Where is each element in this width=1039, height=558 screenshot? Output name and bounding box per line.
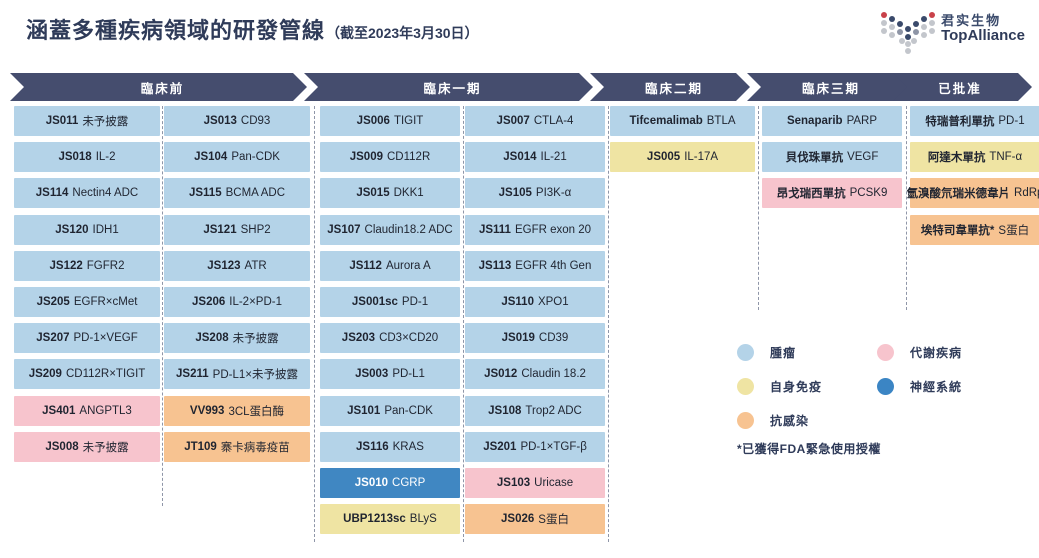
pipeline-cell-code: JS115	[189, 187, 222, 199]
pipeline-cell[interactable]: JS201PD-1×TGF-β	[465, 432, 605, 462]
company-logo: 君实生物 TopAlliance	[879, 8, 1025, 50]
pipeline-cell-target: Trop2 ADC	[525, 405, 581, 417]
pipeline-cell[interactable]: JS206IL-2×PD-1	[164, 287, 310, 317]
pipeline-cell-target: BTLA	[707, 115, 736, 127]
pipeline-cell-code: JS208	[195, 332, 228, 344]
pipeline-cell-target: SHP2	[241, 224, 271, 236]
pipeline-cell-target: CD93	[241, 115, 270, 127]
pipeline-cell-code: JS122	[50, 260, 83, 272]
phase-header-label: 臨床三期	[802, 78, 860, 97]
logo-dot	[913, 29, 919, 35]
pipeline-cell-target: CD39	[539, 332, 568, 344]
legend-item-label: 腫瘤	[770, 344, 796, 361]
pipeline-cell[interactable]: TifcemalimabBTLA	[610, 106, 755, 136]
pipeline-cell-target: ANGPTL3	[79, 405, 131, 417]
pipeline-cell-code: JS007	[497, 115, 530, 127]
pipeline-cell-code: JS008	[45, 441, 78, 453]
pipeline-cell[interactable]: 阿達木單抗TNF-α	[910, 142, 1039, 172]
pipeline-cell-code: 貝伐珠單抗	[786, 149, 844, 165]
pipeline-cell-code: JS009	[350, 151, 383, 163]
pipeline-cell-target: ATR	[245, 260, 267, 272]
pipeline-cell-target: IL-17A	[684, 151, 718, 163]
pipeline-column-preclinical-1: JS011未予披露JS018IL-2JS114Nectin4 ADCJS120I…	[14, 106, 160, 548]
legend-color-swatch	[877, 378, 894, 395]
pipeline-column-phase3-1: SenaparibPARP貝伐珠單抗VEGF昂戈瑞西單抗PCSK9	[762, 106, 902, 548]
column-divider	[608, 106, 609, 542]
phase-header-label: 臨床一期	[423, 78, 481, 97]
pipeline-cell[interactable]: JS026S蛋白	[465, 504, 605, 534]
pipeline-cell-target: Pan-CDK	[384, 405, 433, 417]
pipeline-cell[interactable]: 貝伐珠單抗VEGF	[762, 142, 902, 172]
pipeline-cell-target: 寨卡病毒疫苗	[221, 439, 290, 455]
pipeline-cell[interactable]: JS401ANGPTL3	[14, 396, 160, 426]
phase-header-label: 臨床二期	[645, 78, 703, 97]
pipeline-cell[interactable]: JS001scPD-1	[320, 287, 460, 317]
pipeline-cell[interactable]: JS123ATR	[164, 251, 310, 281]
pipeline-cell[interactable]: 昂戈瑞西單抗PCSK9	[762, 178, 902, 208]
pipeline-cell[interactable]: JS019CD39	[465, 323, 605, 353]
pipeline-cell[interactable]: JS120IDH1	[14, 215, 160, 245]
phase-header-phase3[interactable]: 臨床三期	[747, 73, 907, 101]
logo-dot	[881, 12, 887, 18]
logo-dot	[897, 29, 903, 35]
column-divider	[463, 106, 464, 542]
legend-color-swatch	[737, 378, 754, 395]
legend-item-autoimmune: 自身免疫	[737, 378, 822, 395]
logo-name-en: TopAlliance	[941, 28, 1025, 44]
phase-header-phase2[interactable]: 臨床二期	[590, 73, 750, 101]
pipeline-cell-code: JS108	[488, 405, 521, 417]
pipeline-cell[interactable]: JT109寨卡病毒疫苗	[164, 432, 310, 462]
pipeline-cell[interactable]: JS110XPO1	[465, 287, 605, 317]
pipeline-cell-code: JS110	[501, 296, 534, 308]
logo-dot	[881, 28, 887, 34]
logo-dot	[889, 32, 895, 38]
pipeline-cell-target: CD112R×TIGIT	[66, 368, 145, 380]
pipeline-cell-code: 阿達木單抗	[928, 149, 986, 165]
pipeline-cell-code: JS112	[349, 260, 382, 272]
column-divider	[314, 106, 315, 542]
legend-color-swatch	[737, 412, 754, 429]
column-divider	[162, 106, 163, 506]
pipeline-cell-code: JS107	[327, 224, 360, 236]
pipeline-cell-target: PI3K-α	[536, 187, 571, 199]
pipeline-cell[interactable]: JS209CD112R×TIGIT	[14, 359, 160, 389]
pipeline-cell[interactable]: JS104Pan-CDK	[164, 142, 310, 172]
logo-dot	[881, 20, 887, 26]
pipeline-cell[interactable]: JS012Claudin 18.2	[465, 359, 605, 389]
pipeline-cell-code: Senaparib	[787, 115, 843, 127]
pipeline-cell-code: JS003	[355, 368, 388, 380]
legend-item-label: 代謝疾病	[910, 344, 962, 361]
pipeline-cell[interactable]: JS011未予披露	[14, 106, 160, 136]
pipeline-cell-code: JS019	[502, 332, 535, 344]
pipeline-cell-code: JT109	[184, 441, 217, 453]
pipeline-cell-code: UBP1213sc	[343, 513, 406, 525]
pipeline-cell[interactable]: 氫溴酸氘瑞米德韋片RdRp	[910, 178, 1039, 208]
pipeline-cell-target: CD112R	[387, 151, 430, 163]
pipeline-cell-target: PARP	[847, 115, 877, 127]
pipeline-cell-code: JS011	[46, 115, 79, 127]
pipeline-cell-code: JS005	[647, 151, 680, 163]
pipeline-cell[interactable]: JS003PD-L1	[320, 359, 460, 389]
legend-item-label: 神經系統	[910, 378, 962, 395]
pipeline-cell-code: 埃特司韋單抗*	[921, 222, 994, 238]
pipeline-cell-code: JS006	[357, 115, 390, 127]
page-title-main: 涵蓋多種疾病領域的研發管線	[26, 13, 325, 45]
pipeline-cell[interactable]: JS014IL-21	[465, 142, 605, 172]
pipeline-cell[interactable]: JS006TIGIT	[320, 106, 460, 136]
logo-dot	[921, 24, 927, 30]
pipeline-cell[interactable]: JS005IL-17A	[610, 142, 755, 172]
legend-item-metabolic: 代謝疾病	[877, 344, 962, 361]
legend-color-swatch	[737, 344, 754, 361]
pipeline-cell-target: TNF-α	[989, 151, 1022, 163]
pipeline-cell-code: JS104	[194, 151, 227, 163]
logo-dot	[889, 16, 895, 22]
pipeline-cell[interactable]: 特瑞普利單抗PD-1	[910, 106, 1039, 136]
pipeline-cell[interactable]: JS211PD-L1×未予披露	[164, 359, 310, 389]
pipeline-cell-code: JS111	[479, 224, 511, 236]
logo-dot	[897, 21, 903, 27]
pipeline-cell[interactable]: JS008未予披露	[14, 432, 160, 462]
pipeline-cell-target: PD-1	[402, 296, 428, 308]
pipeline-cell-code: JS116	[356, 441, 389, 453]
pipeline-cell-target: PD-L1×未予披露	[213, 366, 298, 382]
pipeline-cell-target: PD-L1	[392, 368, 425, 380]
pipeline-cell[interactable]: JS203CD3×CD20	[320, 323, 460, 353]
legend-item-anti-infection: 抗感染	[737, 412, 809, 429]
pipeline-cell-code: JS013	[204, 115, 237, 127]
pipeline-cell-code: JS121	[203, 224, 236, 236]
pipeline-cell-target: Pan-CDK	[231, 151, 280, 163]
pipeline-cell-target: XPO1	[538, 296, 569, 308]
pipeline-cell[interactable]: JS010CGRP	[320, 468, 460, 498]
pipeline-cell-target: EGFR 4th Gen	[515, 260, 591, 272]
phase-header-preclinical[interactable]: 臨床前	[10, 73, 307, 101]
pipeline-cell-target: IDH1	[93, 224, 119, 236]
pipeline-cell-target: PCSK9	[850, 187, 888, 199]
pipeline-column-phase2-1: TifcemalimabBTLAJS005IL-17A	[610, 106, 755, 548]
pipeline-cell-target: EGFR×cMet	[74, 296, 138, 308]
pipeline-cell-target: 3CL蛋白酶	[228, 403, 284, 419]
pipeline-cell[interactable]: JS207PD-1×VEGF	[14, 323, 160, 353]
pipeline-cell[interactable]: JS114Nectin4 ADC	[14, 178, 160, 208]
pipeline-cell-code: JS105	[499, 187, 532, 199]
pipeline-cell-target: CTLA-4	[534, 115, 574, 127]
pipeline-cell-target: 未予披露	[233, 330, 279, 346]
logo-dot	[905, 48, 911, 54]
pipeline-cell[interactable]: JS208未予披露	[164, 323, 310, 353]
pipeline-cell-code: JS026	[501, 513, 534, 525]
pipeline-cell[interactable]: JS013CD93	[164, 106, 310, 136]
pipeline-cell-code: Tifcemalimab	[629, 115, 702, 127]
pipeline-cell-code: JS015	[356, 187, 389, 199]
pipeline-cell[interactable]: JS122FGFR2	[14, 251, 160, 281]
pipeline-cell[interactable]: JS018IL-2	[14, 142, 160, 172]
pipeline-cell-code: VV993	[190, 405, 225, 417]
pipeline-cell-code: JS207	[36, 332, 69, 344]
logo-text: 君实生物 TopAlliance	[941, 14, 1025, 43]
pipeline-column-approved-1: 特瑞普利單抗PD-1阿達木單抗TNF-α氫溴酸氘瑞米德韋片RdRp埃特司韋單抗*…	[910, 106, 1039, 548]
pipeline-cell-target: Nectin4 ADC	[72, 187, 138, 199]
pipeline-cell[interactable]: JS121SHP2	[164, 215, 310, 245]
logo-dot	[929, 20, 935, 26]
pipeline-cell[interactable]: JS112Aurora A	[320, 251, 460, 281]
pipeline-cell-code: JS209	[29, 368, 62, 380]
pipeline-cell-code: JS101	[347, 405, 380, 417]
pipeline-cell-code: JS014	[503, 151, 536, 163]
pipeline-cell-code: JS205	[37, 296, 70, 308]
pipeline-column-phase1-1: JS006TIGITJS009CD112RJS015DKK1JS107Claud…	[320, 106, 460, 548]
legend-item-neurological: 神經系統	[877, 378, 962, 395]
pipeline-cell[interactable]: JS205EGFR×cMet	[14, 287, 160, 317]
pipeline-cell[interactable]: SenaparibPARP	[762, 106, 902, 136]
pipeline-cell-target: PD-1	[998, 115, 1024, 127]
phase-header-bar: 臨床前臨床一期臨床二期臨床三期已批准	[10, 73, 1032, 101]
pipeline-cell[interactable]: VV9933CL蛋白酶	[164, 396, 310, 426]
pipeline-cell[interactable]: JS116KRAS	[320, 432, 460, 462]
pipeline-cell[interactable]: UBP1213scBLyS	[320, 504, 460, 534]
pipeline-cell-code: 氫溴酸氘瑞米德韋片	[907, 185, 1011, 201]
pipeline-cell-target: DKK1	[394, 187, 424, 199]
pipeline-cell-target: PD-1×TGF-β	[520, 441, 586, 453]
pipeline-cell[interactable]: JS107Claudin18.2 ADC	[320, 215, 460, 245]
pipeline-cell-code: JS401	[42, 405, 75, 417]
logo-dot	[905, 26, 911, 32]
pipeline-cell-code: JS113	[479, 260, 512, 272]
page-header: 涵蓋多種疾病領域的研發管線 （截至2023年3月30日） 君实生物 TopAll…	[0, 0, 1039, 62]
column-divider	[758, 106, 759, 310]
pipeline-cell-target: BCMA ADC	[226, 187, 285, 199]
pipeline-cell[interactable]: JS101Pan-CDK	[320, 396, 460, 426]
pipeline-cell-code: JS211	[176, 368, 209, 380]
pipeline-cell[interactable]: JS015DKK1	[320, 178, 460, 208]
phase-header-phase1[interactable]: 臨床一期	[304, 73, 593, 101]
pipeline-cell-target: Claudin 18.2	[521, 368, 586, 380]
pipeline-cell[interactable]: JS009CD112R	[320, 142, 460, 172]
page-title-date: （截至2023年3月30日）	[326, 23, 479, 43]
legend-item-label: 抗感染	[770, 412, 809, 429]
logo-dot	[921, 32, 927, 38]
pipeline-cell-target: VEGF	[847, 151, 878, 163]
pipeline-cell-target: 未予披露	[82, 113, 128, 129]
pipeline-cell-code: JS123	[207, 260, 240, 272]
pipeline-cell-code: JS206	[192, 296, 225, 308]
logo-dot	[929, 28, 935, 34]
legend-color-swatch	[877, 344, 894, 361]
pipeline-cell[interactable]: JS113EGFR 4th Gen	[465, 251, 605, 281]
pipeline-cell-target: FGFR2	[87, 260, 125, 272]
pipeline-cell-target: CD3×CD20	[379, 332, 438, 344]
pipeline-cell[interactable]: JS111EGFR exon 20	[465, 215, 605, 245]
pipeline-cell-code: JS114	[36, 187, 69, 199]
pipeline-cell-target: 未予披露	[83, 439, 129, 455]
logo-dot	[921, 16, 927, 22]
phase-header-label: 已批准	[938, 78, 982, 97]
pipeline-cell-target: Uricase	[534, 477, 573, 489]
legend-item-oncology: 腫瘤	[737, 344, 796, 361]
pipeline-cell[interactable]: 埃特司韋單抗*S蛋白	[910, 215, 1039, 245]
logo-dot	[911, 38, 917, 44]
column-divider	[906, 106, 907, 310]
pipeline-cell-target: RdRp	[1014, 187, 1039, 199]
pipeline-cell-target: IL-21	[541, 151, 567, 163]
pipeline-cell-target: Aurora A	[386, 260, 431, 272]
pipeline-cell-code: JS203	[342, 332, 375, 344]
pipeline-cell-code: JS018	[58, 151, 91, 163]
page-title: 涵蓋多種疾病領域的研發管線 （截至2023年3月30日）	[26, 13, 479, 45]
pipeline-column-preclinical-2: JS013CD93JS104Pan-CDKJS115BCMA ADCJS121S…	[164, 106, 310, 548]
pipeline-cell[interactable]: JS108Trop2 ADC	[465, 396, 605, 426]
pipeline-cell[interactable]: JS007CTLA-4	[465, 106, 605, 136]
pipeline-cell-code: JS103	[497, 477, 530, 489]
pipeline-cell-code: JS012	[484, 368, 517, 380]
pipeline-column-phase1-2: JS007CTLA-4JS014IL-21JS105PI3K-αJS111EGF…	[465, 106, 605, 548]
pipeline-cell-code: JS010	[355, 477, 388, 489]
logo-name-cn: 君实生物	[941, 14, 1025, 28]
pipeline-cell[interactable]: JS105PI3K-α	[465, 178, 605, 208]
pipeline-cell-target: IL-2×PD-1	[229, 296, 282, 308]
pipeline-cell-code: JS120	[55, 224, 88, 236]
legend-item-label: 自身免疫	[770, 378, 822, 395]
pipeline-cell-code: JS201	[483, 441, 516, 453]
pipeline-cell-code: JS001sc	[352, 296, 398, 308]
legend-footnote: *已獲得FDA緊急使用授權	[737, 440, 881, 457]
pipeline-cell[interactable]: JS103Uricase	[465, 468, 605, 498]
pipeline-cell[interactable]: JS115BCMA ADC	[164, 178, 310, 208]
pipeline-cell-target: Claudin18.2 ADC	[365, 224, 453, 236]
pipeline-cell-target: CGRP	[392, 477, 425, 489]
pipeline-cell-target: TIGIT	[394, 115, 423, 127]
antibody-logo-icon	[879, 8, 935, 50]
pipeline-cell-target: S蛋白	[998, 222, 1029, 238]
pipeline-cell-target: IL-2	[96, 151, 116, 163]
pipeline-cell-target: S蛋白	[538, 511, 569, 527]
pipeline-cell-target: PD-1×VEGF	[74, 332, 138, 344]
phase-header-label: 臨床前	[141, 78, 185, 97]
pipeline-cell-code: 昂戈瑞西單抗	[777, 185, 846, 201]
logo-dot	[889, 24, 895, 30]
pipeline-grid: JS011未予披露JS018IL-2JS114Nectin4 ADCJS120I…	[10, 106, 1032, 548]
pipeline-cell-target: KRAS	[393, 441, 424, 453]
pipeline-cell-target: BLyS	[410, 513, 437, 525]
logo-dot	[929, 12, 935, 18]
pipeline-cell-code: 特瑞普利單抗	[925, 113, 994, 129]
pipeline-cell-target: EGFR exon 20	[515, 224, 591, 236]
logo-dot	[913, 21, 919, 27]
